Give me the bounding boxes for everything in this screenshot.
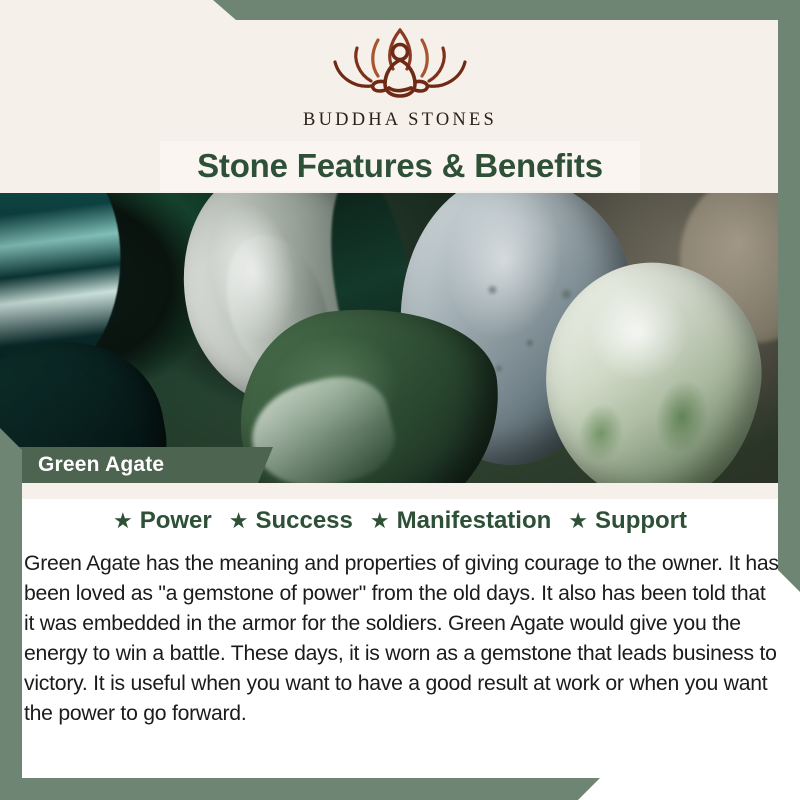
- frame-accent-right: [778, 0, 800, 592]
- frame-accent-left: [0, 428, 22, 800]
- description-text: Green Agate has the meaning and properti…: [24, 549, 780, 729]
- stone-photo: [0, 193, 800, 483]
- feature-item-support: ★ Support: [568, 507, 687, 535]
- brand-logo: BUDDHA STONES: [0, 22, 800, 131]
- page-title: Stone Features & Benefits: [197, 147, 603, 185]
- feature-item-success: ★ Success: [229, 507, 353, 535]
- photo-vignette: [0, 193, 800, 483]
- lotus-meditation-icon: [315, 22, 485, 104]
- stone-name-label: Green Agate: [18, 453, 164, 477]
- feature-label: Support: [595, 507, 687, 535]
- star-icon: ★: [370, 510, 390, 532]
- brand-name: BUDDHA STONES: [303, 110, 497, 131]
- feature-list: ★ Power ★ Success ★ Manifestation ★ Supp…: [0, 507, 800, 535]
- feature-label: Manifestation: [397, 507, 552, 535]
- cream-divider-strip: [0, 483, 800, 499]
- content-panel: ★ Power ★ Success ★ Manifestation ★ Supp…: [0, 483, 800, 800]
- star-icon: ★: [568, 510, 588, 532]
- page-title-plate: Stone Features & Benefits: [160, 141, 640, 191]
- feature-item-power: ★ Power: [113, 507, 212, 535]
- star-icon: ★: [113, 510, 133, 532]
- stone-name-tag: Green Agate: [18, 447, 273, 483]
- feature-item-manifestation: ★ Manifestation: [370, 507, 551, 535]
- poster-root: BUDDHA STONES Stone Features & Benefits …: [0, 0, 800, 800]
- star-icon: ★: [229, 510, 249, 532]
- feature-label: Power: [140, 507, 212, 535]
- feature-label: Success: [255, 507, 352, 535]
